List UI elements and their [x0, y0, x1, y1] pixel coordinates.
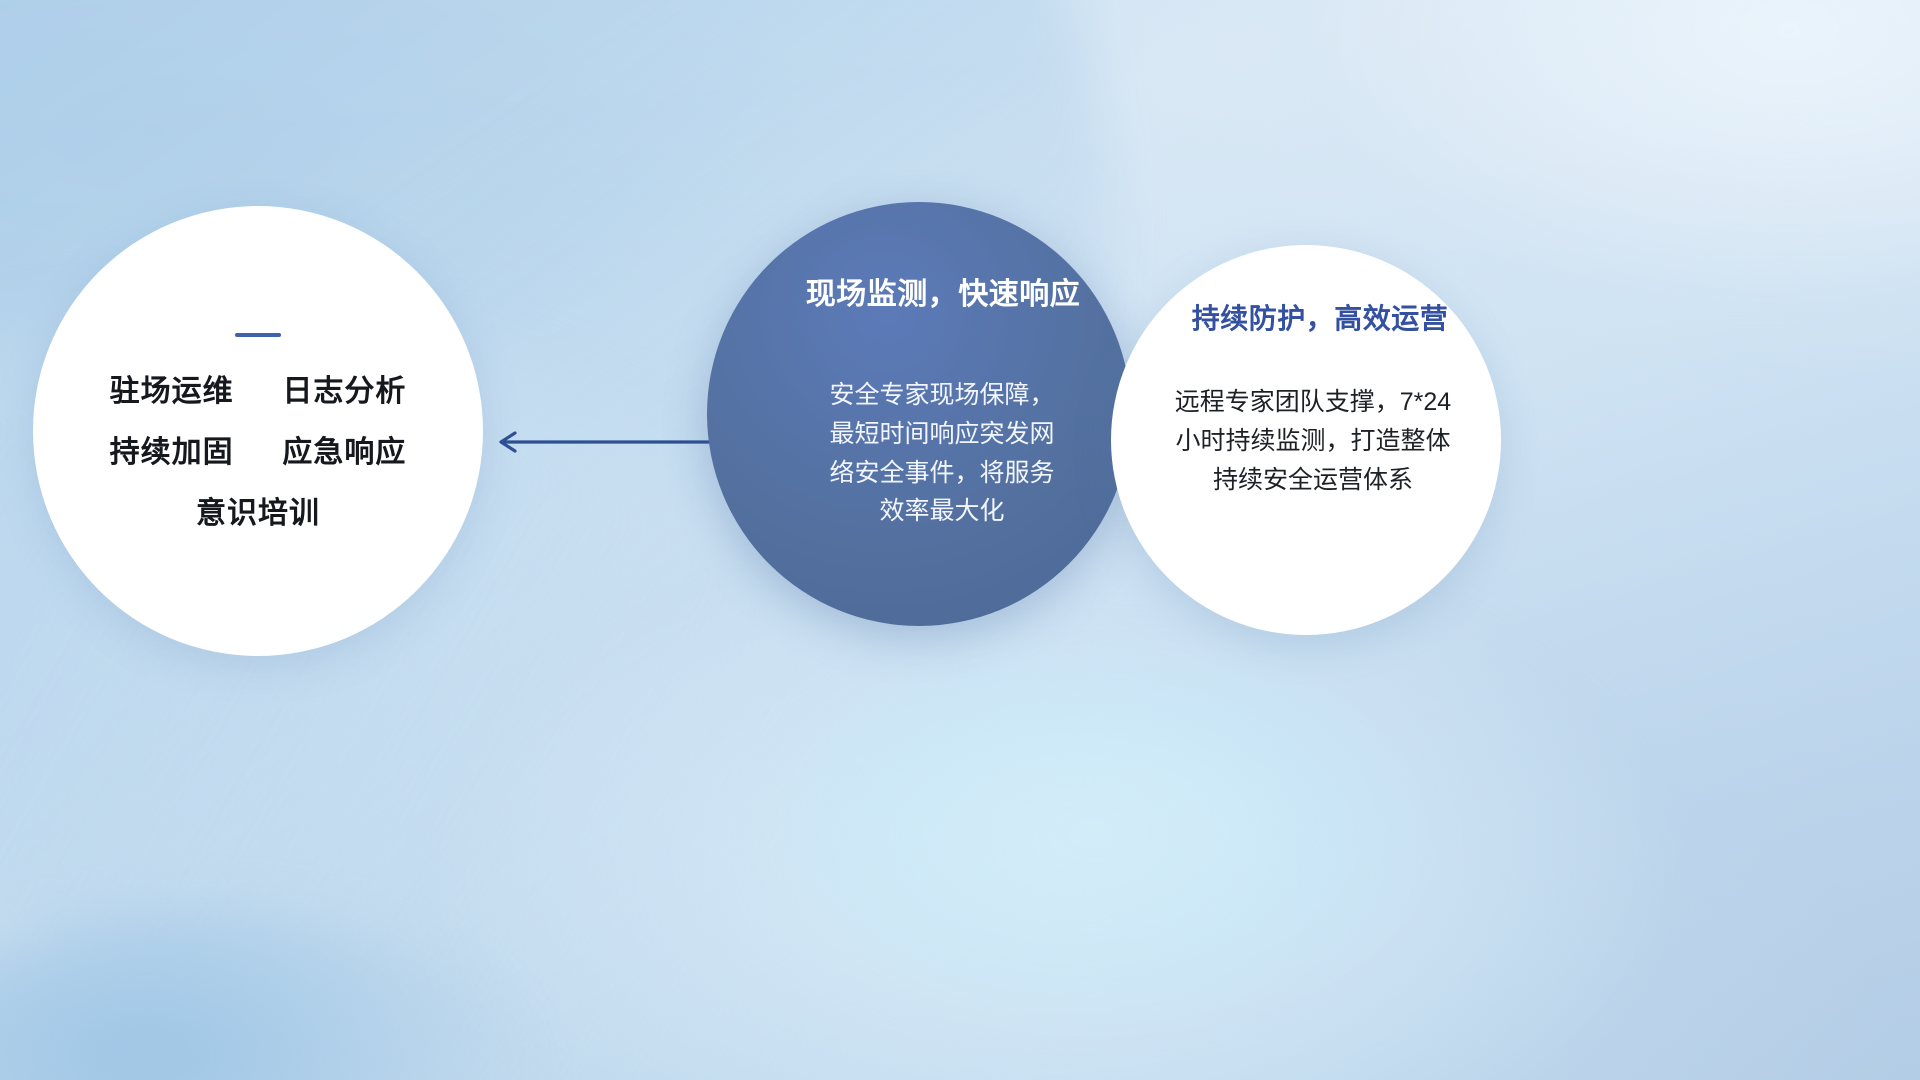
body-line: 小时持续监测，打造整体 — [1137, 422, 1489, 461]
capability-label: 日志分析 — [282, 375, 406, 408]
divider-dash — [235, 333, 281, 337]
body-line: 最短时间响应突发网 — [796, 415, 1088, 454]
left-circle-service-capabilities[interactable]: 驻场运维 日志分析 持续加固 应急响应 意识培训 — [33, 206, 483, 656]
right-circle-title: 持续防护，高效运营 — [1192, 305, 1449, 333]
body-line: 持续安全运营体系 — [1137, 461, 1489, 500]
capability-label: 驻场运维 — [110, 375, 234, 408]
capability-label: 意识培训 — [196, 497, 320, 530]
capability-list: 驻场运维 日志分析 持续加固 应急响应 意识培训 — [110, 377, 407, 529]
right-circle-continuous-protection[interactable]: 持续防护，高效运营 远程专家团队支撑，7*24 小时持续监测，打造整体 持续安全… — [1111, 245, 1501, 635]
body-line: 效率最大化 — [796, 492, 1088, 531]
capability-row-1: 驻场运维 日志分析 — [110, 377, 407, 407]
body-line: 络安全事件，将服务 — [796, 454, 1088, 493]
middle-circle-body: 安全专家现场保障， 最短时间响应突发网 络安全事件，将服务 效率最大化 — [796, 376, 1088, 531]
body-line: 远程专家团队支撑，7*24 — [1137, 383, 1489, 422]
right-circle-body: 远程专家团队支撑，7*24 小时持续监测，打造整体 持续安全运营体系 — [1137, 383, 1489, 499]
flow-arrow-right-to-left — [489, 424, 719, 460]
capability-row-2: 持续加固 应急响应 — [110, 438, 407, 468]
body-line: 安全专家现场保障， — [796, 376, 1088, 415]
capability-label: 持续加固 — [110, 436, 234, 469]
capability-label: 应急响应 — [282, 436, 406, 469]
middle-circle-onsite-monitoring[interactable]: 现场监测，快速响应 安全专家现场保障， 最短时间响应突发网 络安全事件，将服务 … — [707, 202, 1131, 626]
middle-circle-title: 现场监测，快速响应 — [806, 280, 1081, 310]
capability-row-3: 意识培训 — [110, 499, 407, 529]
